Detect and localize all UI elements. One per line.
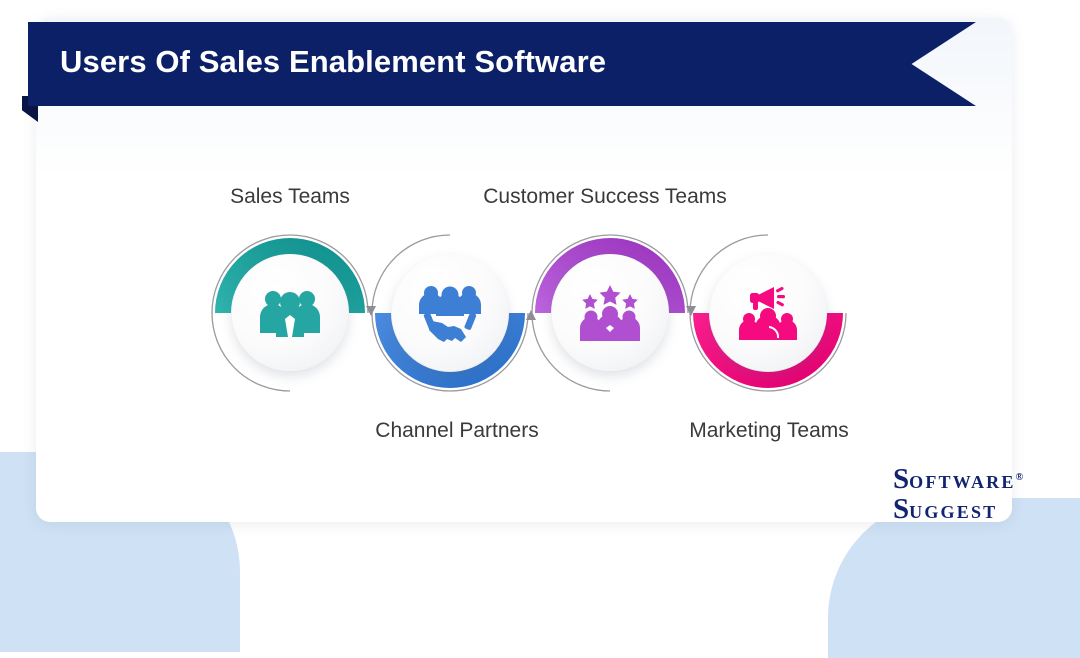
node-disc [710,255,826,371]
logo-line-2: S UGGEST [893,496,1023,522]
logo-cap-s-1: S [893,466,909,492]
logo-cap-s-2: S [893,496,909,522]
megaphone-audience-icon [736,284,800,342]
node-disc [392,255,508,371]
node-channel-partners[interactable] [375,238,525,388]
node-label-channel-partners: Channel Partners [375,419,538,443]
node-marketing-teams[interactable] [693,238,843,388]
team-stars-icon [577,283,643,343]
node-disc [552,255,668,371]
node-customer-success-teams[interactable] [535,238,685,388]
page-title: Users Of Sales Enablement Software [60,44,606,80]
infographic-canvas: Users Of Sales Enablement Software [0,0,1080,572]
people-group-icon [259,287,321,339]
softwaresuggest-logo[interactable]: S OFTWARE ® S UGGEST [893,466,1023,522]
registered-mark-icon: ® [1016,473,1023,483]
logo-word-suggest: UGGEST [909,503,997,521]
node-label-customer-success-teams: Customer Success Teams [483,185,727,209]
logo-line-1: S OFTWARE ® [893,466,1023,492]
node-label-sales-teams: Sales Teams [230,185,350,209]
node-label-marketing-teams: Marketing Teams [689,419,849,443]
node-sales-teams[interactable] [215,238,365,388]
handshake-partners-icon [418,284,482,342]
logo-word-software: OFTWARE [909,473,1015,491]
node-disc [232,255,348,371]
